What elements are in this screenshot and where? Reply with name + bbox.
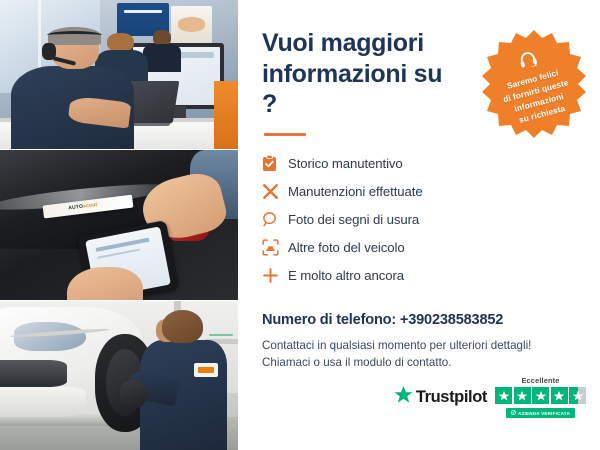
- callout-badge: Saremo felici di fornirti queste informa…: [478, 28, 590, 140]
- contact-subtext-line-2: Chiamaci o usa il modulo di contatto.: [262, 354, 562, 372]
- agent-foreground: [19, 30, 124, 149]
- promo-banner: AUTOscout: [0, 0, 600, 450]
- tools-cross-icon: [262, 183, 288, 200]
- car-grille: [0, 360, 67, 387]
- photo-column: AUTOscout: [0, 0, 238, 450]
- headset-icon: [516, 49, 540, 75]
- headline-line-2: informazioni su ?: [262, 59, 462, 120]
- photo-vehicle-inspection-with-tablet: AUTOscout: [0, 149, 238, 299]
- trustpilot-star-1: [495, 387, 512, 404]
- inspector-hand-lower: [67, 267, 143, 300]
- trustpilot-score-block: Eccellente AZIENDA VERIFICATA: [495, 376, 586, 418]
- uniform-logo-patch: [194, 363, 218, 377]
- contact-subtext-line-1: Contattaci in qualsiasi momento per ulte…: [262, 339, 531, 352]
- verified-check-icon: [511, 410, 516, 416]
- trustpilot-logo: Trustpilot: [394, 386, 487, 409]
- phone-line: Numero di telefono: +390238583852: [262, 312, 578, 328]
- orange-object: [214, 81, 238, 150]
- phone-label: Numero di telefono:: [262, 312, 396, 328]
- trustpilot-star-2: [514, 387, 531, 404]
- trustpilot-star-4: [551, 387, 568, 404]
- verified-label: AZIENDA VERIFICATA: [518, 411, 570, 416]
- car-bumper: [0, 387, 86, 417]
- feature-list: Storico manutentivo Manutenzioni effettu…: [262, 150, 578, 290]
- feature-item-molto-altro: E molto altro ancora: [262, 262, 578, 290]
- phone-number[interactable]: +390238583852: [400, 312, 503, 328]
- trustpilot-rating-word: Eccellente: [521, 376, 559, 385]
- trustpilot-star-5: [569, 387, 586, 404]
- feature-label: Foto dei segni di usura: [288, 212, 419, 227]
- plus-icon: [262, 267, 288, 284]
- badge-text: Saremo felici di fornirti queste informa…: [499, 66, 576, 129]
- feature-item-manutenzioni-effettuate: Manutenzioni effettuate: [262, 178, 578, 206]
- headline-line-1: Vuoi maggiori: [262, 29, 424, 57]
- work-glove: [120, 380, 147, 408]
- scan-car-icon: [262, 239, 288, 256]
- photo-call-center-agents-with-headsets: [0, 0, 238, 149]
- feature-label: Storico manutentivo: [288, 156, 403, 171]
- background-colleague-far: [143, 30, 181, 72]
- trustpilot-stars: [495, 387, 586, 404]
- magnifier-icon: [262, 211, 288, 228]
- feature-label: Manutenzioni effettuate: [288, 184, 423, 199]
- verified-company-badge: AZIENDA VERIFICATA: [506, 408, 575, 418]
- clipboard-check-icon: [262, 155, 288, 172]
- content-panel: Vuoi maggiori informazioni su ?: [238, 0, 600, 450]
- title-divider: [264, 133, 306, 136]
- trustpilot-star-icon: [394, 386, 413, 409]
- feature-item-storico-manutentivo: Storico manutentivo: [262, 150, 578, 178]
- strip-brand-label: AUTOscout: [68, 202, 98, 212]
- photo-mechanic-wheel-service: [0, 300, 238, 450]
- trustpilot-rating[interactable]: Trustpilot Eccellente AZIENDA VERIFICATA: [394, 376, 586, 418]
- feature-item-altre-foto-veicolo: Altre foto del veicolo: [262, 234, 578, 262]
- mechanic-figure: [138, 310, 228, 450]
- page-title: Vuoi maggiori informazioni su ?: [262, 28, 462, 120]
- feature-label: E molto altro ancora: [288, 268, 404, 283]
- trustpilot-wordmark: Trustpilot: [416, 388, 487, 407]
- contact-subtext: Contattaci in qualsiasi momento per ulte…: [262, 337, 562, 373]
- feature-label: Altre foto del veicolo: [288, 240, 405, 255]
- feature-item-foto-segni-usura: Foto dei segni di usura: [262, 206, 578, 234]
- trustpilot-star-3: [532, 387, 549, 404]
- contact-block: Numero di telefono: +390238583852 Contat…: [262, 312, 578, 373]
